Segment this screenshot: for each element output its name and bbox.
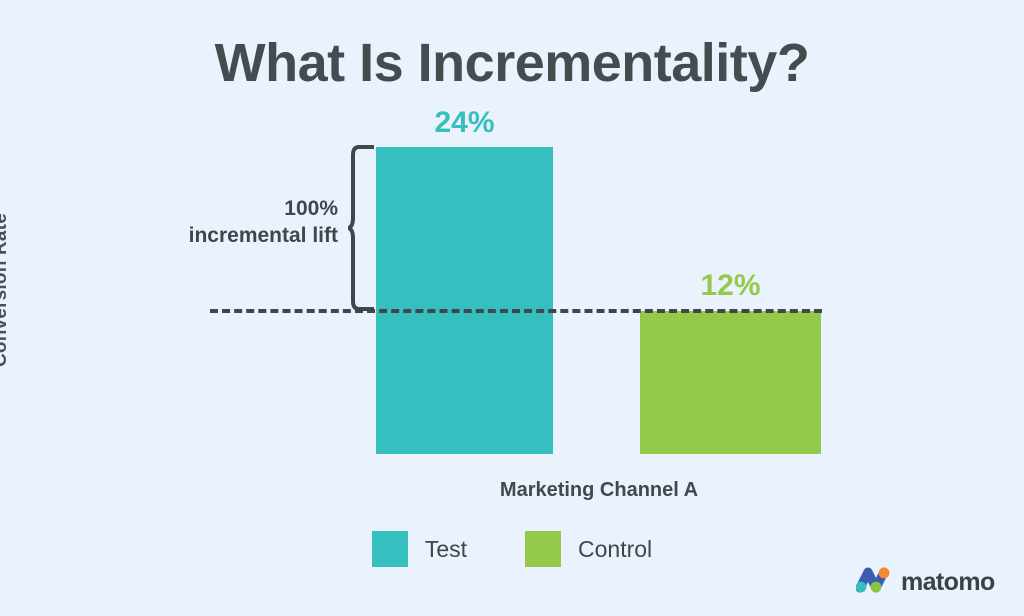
legend-label-test: Test <box>425 536 467 563</box>
lift-annotation-line1: 100% <box>80 196 338 223</box>
bar-value-label-control: 12% <box>640 271 821 301</box>
lift-annotation: 100% incremental lift <box>80 196 338 250</box>
curly-brace-icon <box>348 144 374 312</box>
legend-swatch-test <box>372 531 408 567</box>
legend-item-control[interactable]: Control <box>525 531 652 567</box>
chart-legend: Test Control <box>0 531 1024 567</box>
legend-label-control: Control <box>578 536 652 563</box>
chart-canvas: What Is Incrementality? Conversion Rate … <box>0 0 1024 616</box>
reference-line <box>210 309 822 313</box>
plot-area: 24% 12% 100% incremental lift Marketing … <box>0 0 1024 616</box>
x-axis-label: Marketing Channel A <box>376 479 822 502</box>
bar-control[interactable] <box>640 311 821 454</box>
legend-item-test[interactable]: Test <box>372 531 467 567</box>
brand-logo: matomo <box>856 566 995 599</box>
matomo-logo-icon <box>856 566 894 599</box>
brand-wordmark: matomo <box>901 568 995 597</box>
bar-value-label-test: 24% <box>376 108 553 138</box>
bar-test[interactable] <box>376 147 553 454</box>
legend-swatch-control <box>525 531 561 567</box>
lift-annotation-line2: incremental lift <box>80 223 338 250</box>
